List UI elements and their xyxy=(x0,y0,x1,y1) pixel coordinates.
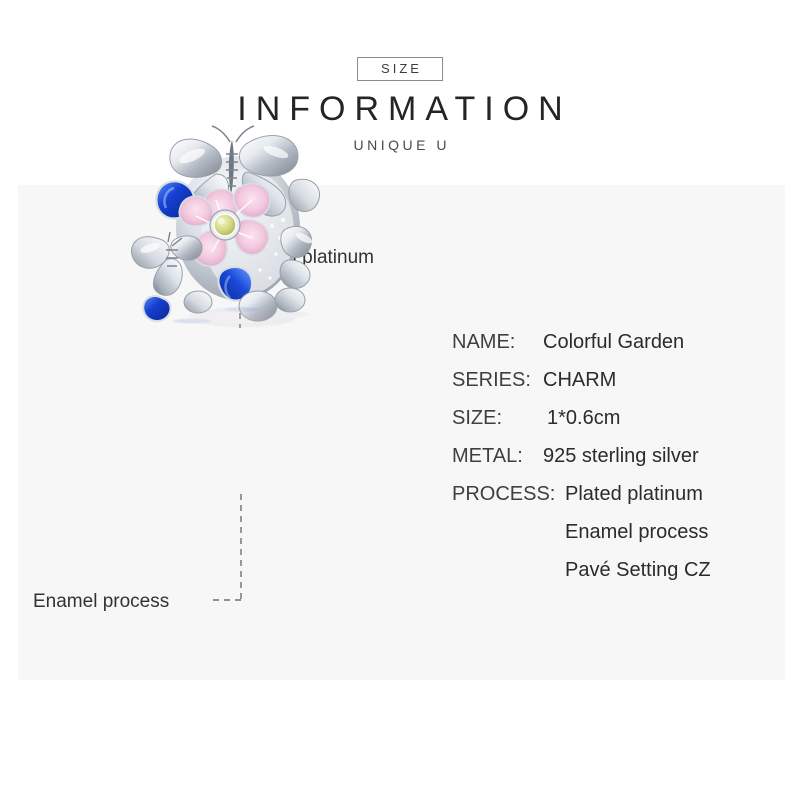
charm-illustration xyxy=(120,120,350,335)
spec-label-size: SIZE: xyxy=(452,406,502,430)
spec-value-process-2: Enamel process xyxy=(565,520,708,544)
spec-row-size: SIZE: 1*0.6cm xyxy=(452,406,762,444)
spec-row-series: SERIES: CHARM xyxy=(452,368,762,406)
spec-label-series: SERIES: xyxy=(452,368,531,392)
spec-value-process-3: Pavé Setting CZ xyxy=(565,558,711,582)
spec-row-metal: METAL: 925 sterling silver xyxy=(452,444,762,482)
spec-row-process-cont-2: Pavé Setting CZ xyxy=(452,558,762,596)
spec-value-process-1: Plated platinum xyxy=(565,482,703,506)
spec-label-process: PROCESS: xyxy=(452,482,555,506)
spec-row-process: PROCESS: Plated platinum xyxy=(452,482,762,520)
spec-value-size: 1*0.6cm xyxy=(547,406,620,430)
callout-label-enamel-process: Enamel process xyxy=(33,592,169,611)
size-badge: SIZE xyxy=(357,57,443,81)
spec-row-name: NAME: Colorful Garden xyxy=(452,330,762,368)
spec-value-series: CHARM xyxy=(543,368,616,392)
spec-row-process-cont-1: Enamel process xyxy=(452,520,762,558)
spec-label-metal: METAL: xyxy=(452,444,523,468)
product-image xyxy=(120,120,380,410)
spec-value-metal: 925 sterling silver xyxy=(543,444,699,468)
spec-value-name: Colorful Garden xyxy=(543,330,684,354)
spec-label-name: NAME: xyxy=(452,330,515,354)
product-spec-list: NAME: Colorful Garden SERIES: CHARM SIZE… xyxy=(452,330,762,596)
